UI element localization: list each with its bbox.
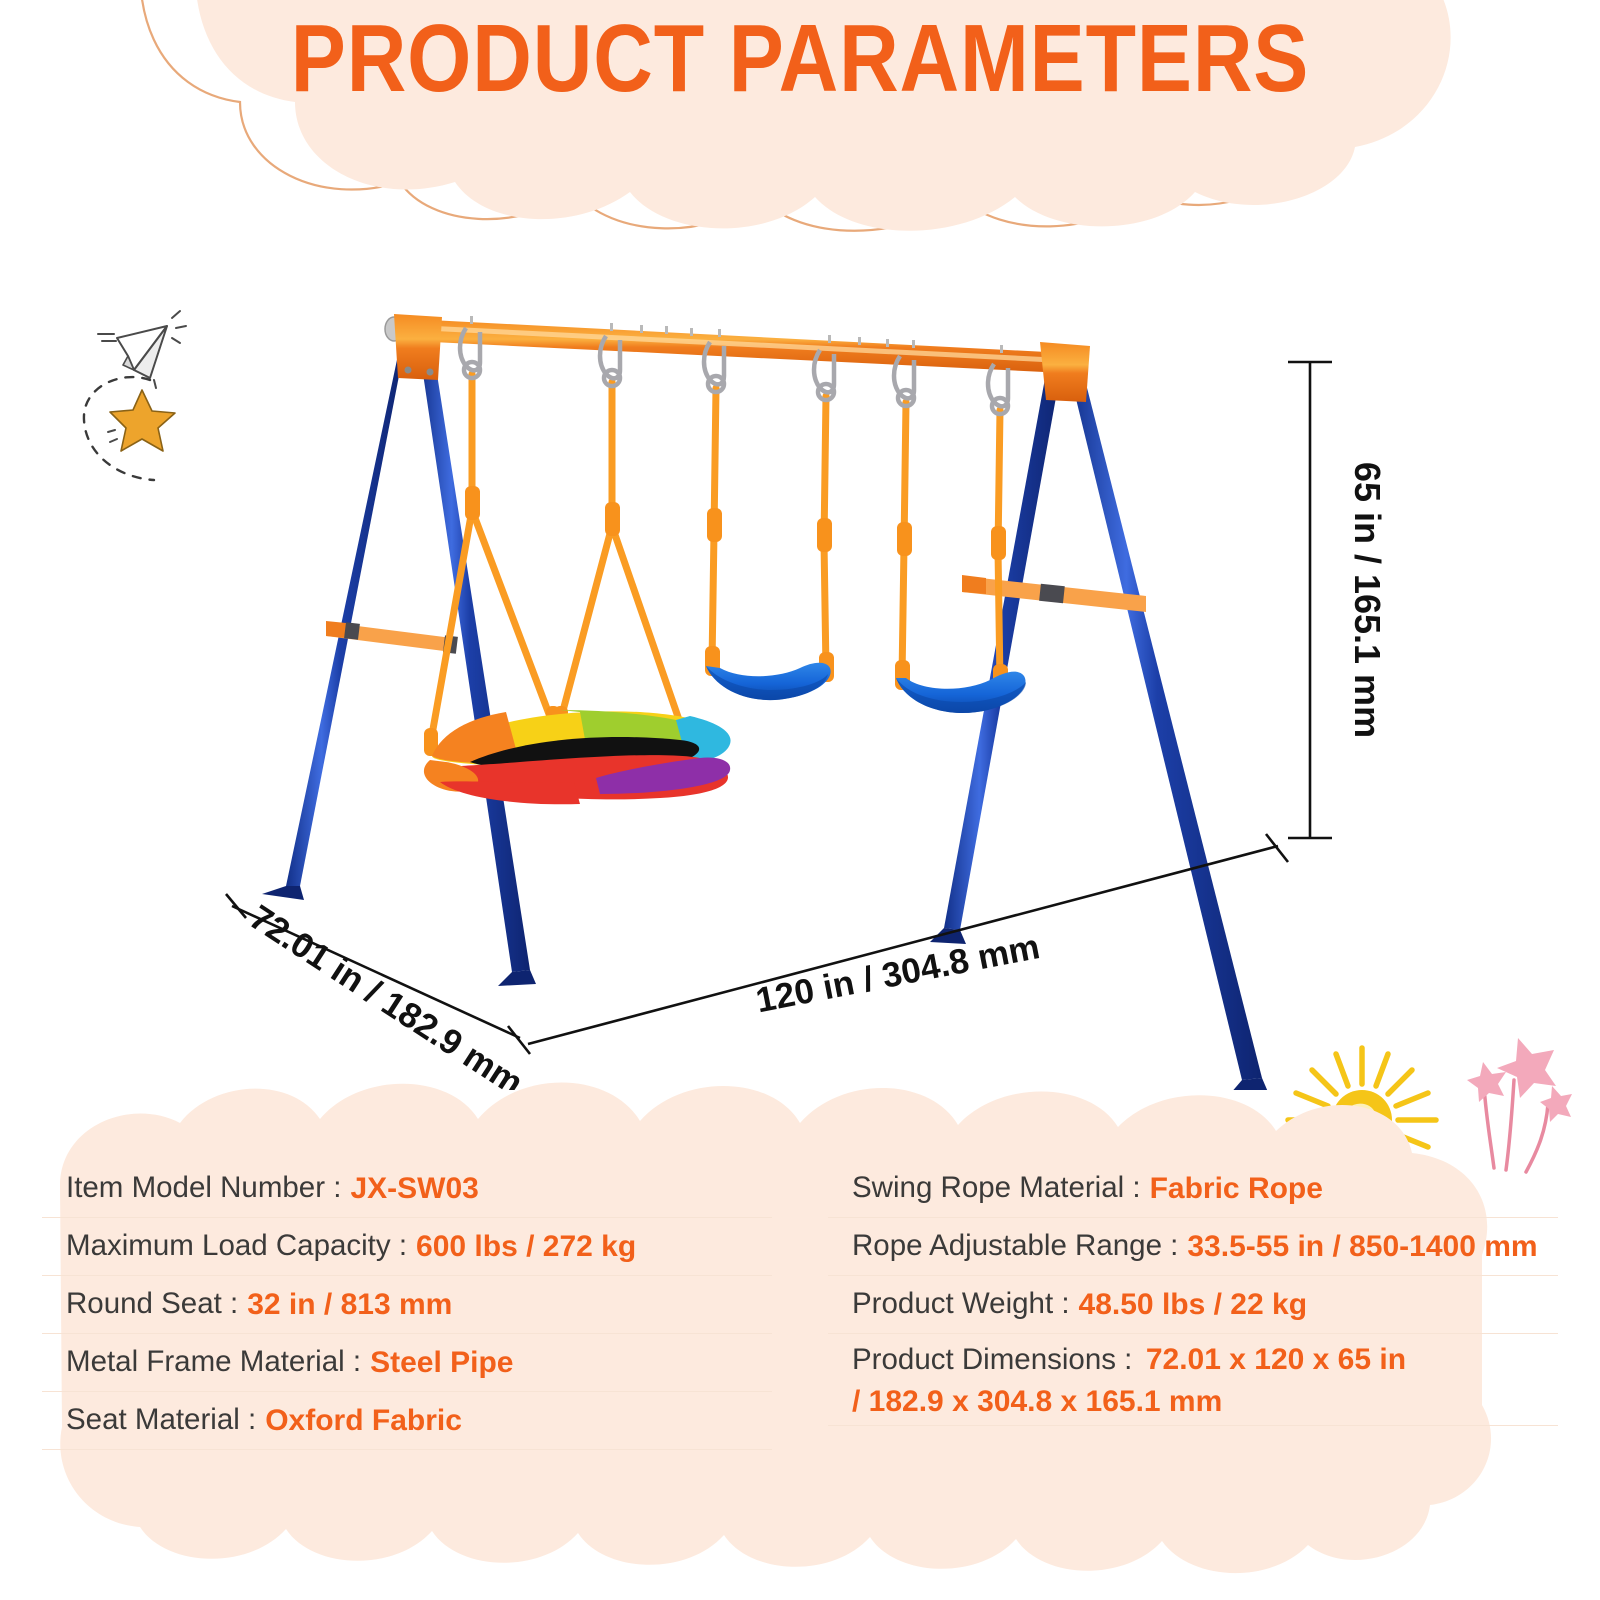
spec-table: Item Model Number : JX-SW03 Maximum Load… xyxy=(0,1075,1600,1600)
spec-row-rope-adjustable-range: Rope Adjustable Range : 33.5-55 in / 850… xyxy=(828,1218,1558,1276)
spec-value: 72.01 x 120 x 65 in xyxy=(1146,1343,1406,1376)
page-title: PRODUCT PARAMETERS xyxy=(112,4,1488,114)
spec-label: Seat Material : xyxy=(66,1403,256,1438)
spec-label: Item Model Number : xyxy=(66,1171,341,1206)
width-measure-line xyxy=(528,846,1278,1044)
spec-row-product-weight: Product Weight : 48.50 lbs / 22 kg xyxy=(828,1276,1558,1334)
title-cloud-banner: PRODUCT PARAMETERS xyxy=(0,0,1600,272)
height-dimension-label: 65 in / 165.1 mm xyxy=(1347,462,1388,738)
depth-dimension-label: 72.01 in / 182.9 mm xyxy=(243,898,530,1090)
spec-column-left: Item Model Number : JX-SW03 Maximum Load… xyxy=(42,1160,806,1600)
spec-row-item-model-number: Item Model Number : JX-SW03 xyxy=(42,1160,772,1218)
spec-value: 48.50 lbs / 22 kg xyxy=(1079,1287,1307,1322)
spec-row-swing-rope-material: Swing Rope Material : Fabric Rope xyxy=(828,1160,1558,1218)
spec-label: Product Weight : xyxy=(852,1287,1070,1322)
spec-value: Steel Pipe xyxy=(370,1345,513,1380)
spec-row-seat-material: Seat Material : Oxford Fabric xyxy=(42,1392,772,1450)
spec-value: Oxford Fabric xyxy=(265,1403,462,1438)
a-frame-left xyxy=(262,314,536,986)
spec-label: Swing Rope Material : xyxy=(852,1171,1141,1206)
spec-label: Rope Adjustable Range : xyxy=(852,1229,1178,1264)
spec-label: Product Dimensions : xyxy=(852,1343,1132,1376)
spec-row-maximum-load-capacity: Maximum Load Capacity : 600 lbs / 272 kg xyxy=(42,1218,772,1276)
top-beam xyxy=(385,316,1085,374)
spec-panel: Item Model Number : JX-SW03 Maximum Load… xyxy=(0,1075,1600,1600)
width-dimension-label: 120 in / 304.8 mm xyxy=(753,927,1043,1020)
spec-label: Maximum Load Capacity : xyxy=(66,1229,407,1264)
blue-belt-seat-1 xyxy=(706,663,831,700)
spec-row-round-seat: Round Seat : 32 in / 813 mm xyxy=(42,1276,772,1334)
a-frame-right xyxy=(930,342,1268,1090)
spec-label: Metal Frame Material : xyxy=(66,1345,361,1380)
spec-row-product-dimensions: Product Dimensions : 72.01 x 120 x 65 in… xyxy=(828,1334,1558,1426)
product-illustration: 65 in / 165.1 mm 72.01 in / 182.9 mm 120… xyxy=(0,270,1600,1090)
spec-column-right: Swing Rope Material : Fabric Rope Rope A… xyxy=(806,1160,1558,1600)
spec-value-second-line: / 182.9 x 304.8 x 165.1 mm xyxy=(852,1384,1558,1419)
spec-value: 32 in / 813 mm xyxy=(247,1287,452,1322)
spec-value: 600 lbs / 272 kg xyxy=(416,1229,636,1264)
crossbar-right xyxy=(962,575,1146,612)
spec-value: 33.5-55 in / 850-1400 mm xyxy=(1187,1229,1537,1264)
spec-label: Round Seat : xyxy=(66,1287,238,1322)
spec-row-metal-frame-material: Metal Frame Material : Steel Pipe xyxy=(42,1334,772,1392)
dimension-labels: 65 in / 165.1 mm 72.01 in / 182.9 mm 120… xyxy=(243,462,1388,1090)
rainbow-saucer-seat xyxy=(424,710,731,804)
blue-belt-seat-2 xyxy=(896,672,1026,713)
spec-value: JX-SW03 xyxy=(350,1171,478,1206)
infographic-page: PRODUCT PARAMETERS xyxy=(0,0,1600,1600)
spec-value: Fabric Rope xyxy=(1150,1171,1323,1206)
